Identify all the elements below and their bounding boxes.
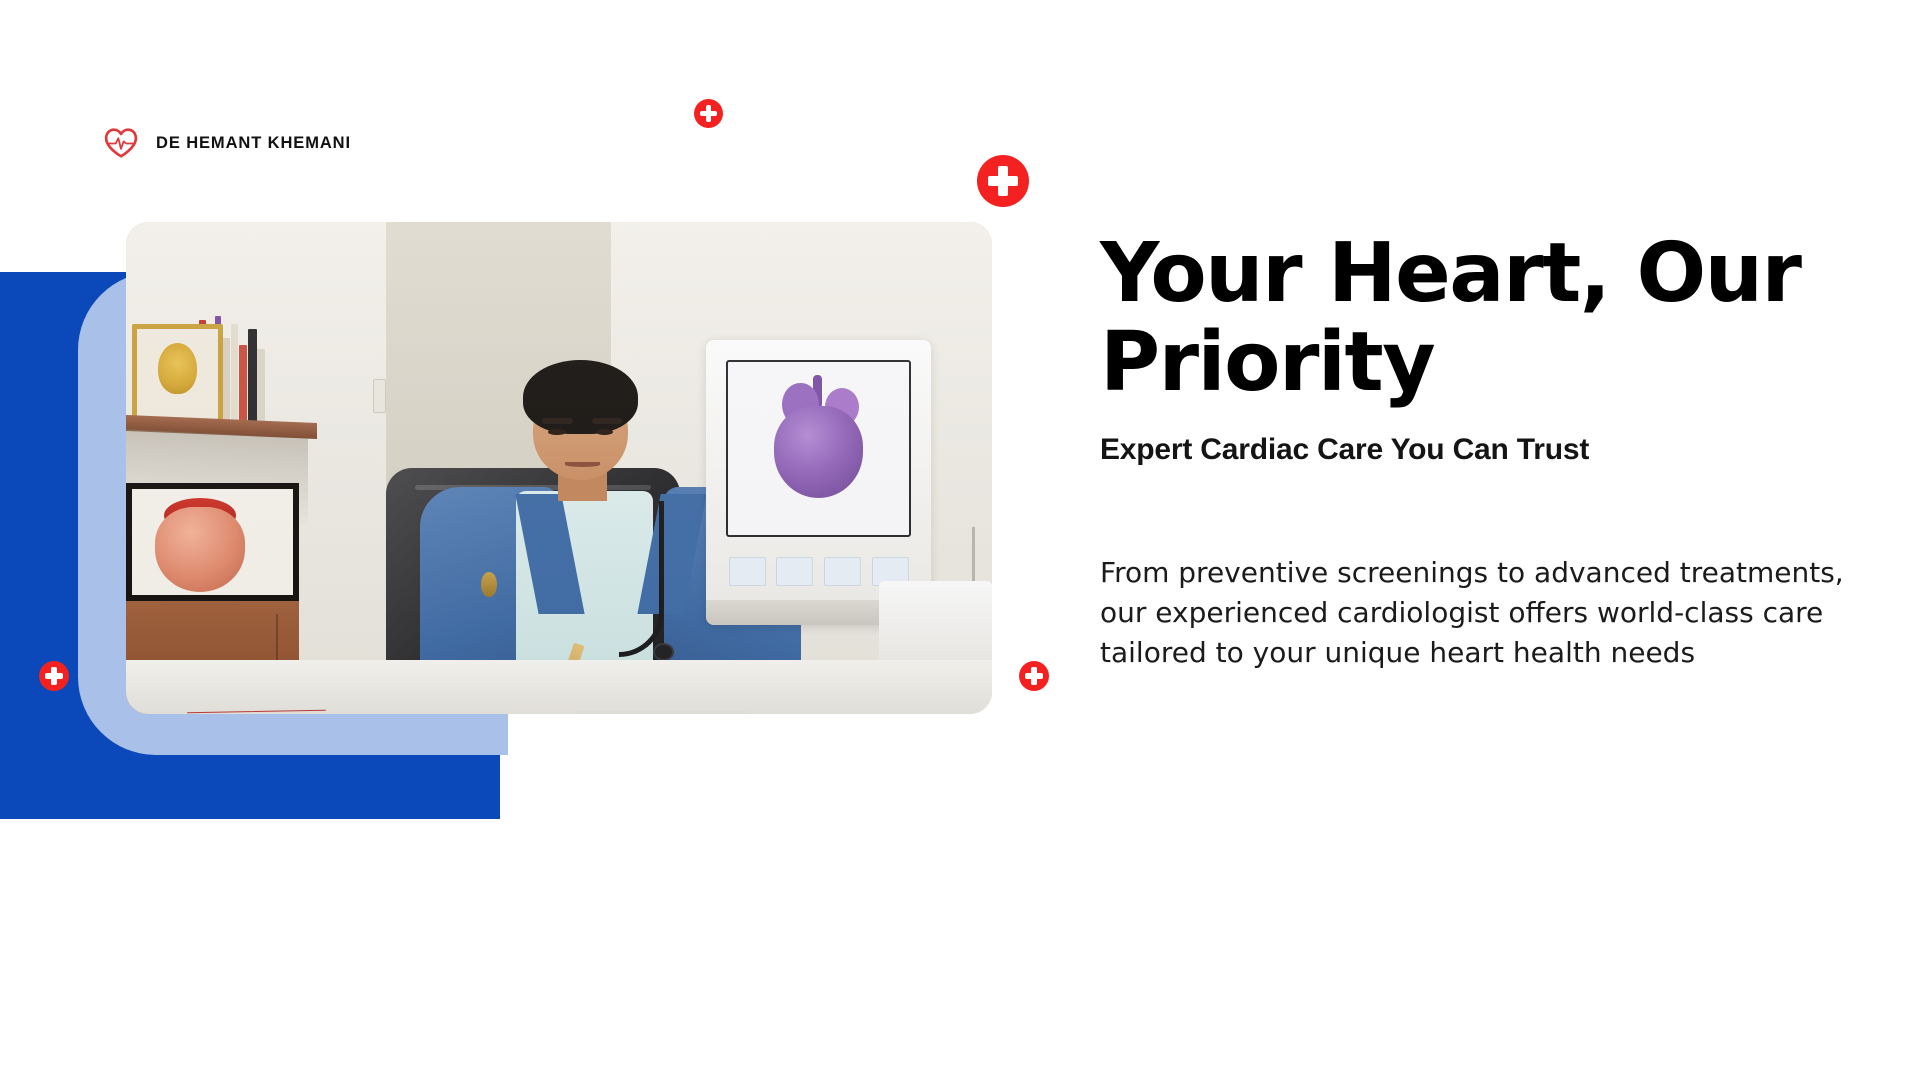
heart-pulse-icon <box>104 126 138 160</box>
brand-name: DE HEMANT KHEMANI <box>156 134 351 153</box>
doctor-photo-card <box>126 222 992 714</box>
photo-stethoscope <box>619 501 665 657</box>
medical-cross-icon-large <box>977 155 1029 207</box>
photo-gold-frame <box>132 324 223 424</box>
hero-subtitle: Expert Cardiac Care You Can Trust <box>1100 433 1872 467</box>
doctor-photo <box>126 222 992 714</box>
photo-bookshelf-books <box>126 311 317 424</box>
brand-logo[interactable]: DE HEMANT KHEMANI <box>104 122 351 164</box>
hero-description: From preventive screenings to advanced t… <box>1100 553 1870 672</box>
photo-anatomical-heart-graphic <box>768 383 869 511</box>
medical-cross-icon-left <box>39 661 69 691</box>
photo-desk <box>126 660 992 714</box>
photo-wall-switch <box>373 379 386 413</box>
page-title: Your Heart, Our Priority <box>1100 230 1872 407</box>
medical-cross-icon-top <box>694 99 723 128</box>
hero-banner: DE HEMANT KHEMANI <box>0 0 1920 1080</box>
photo-heart-model <box>143 498 256 616</box>
hero-text-column: Your Heart, Our Priority Expert Cardiac … <box>1100 230 1872 672</box>
medical-cross-icon-right <box>1019 661 1049 691</box>
